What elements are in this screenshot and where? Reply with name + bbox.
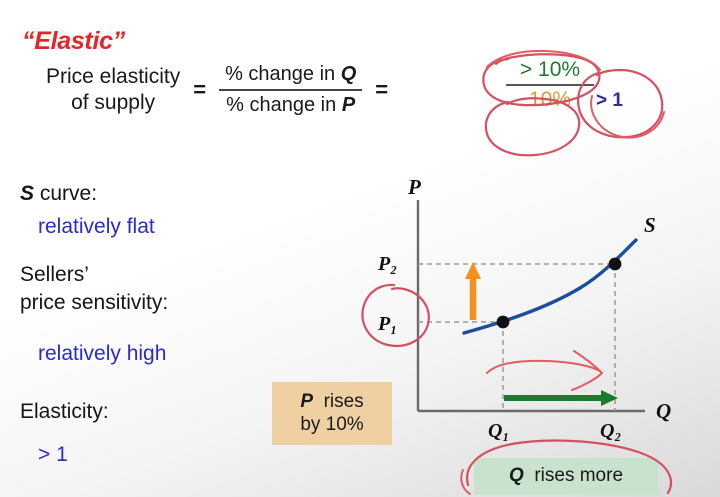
annotated-denominator: 10% bbox=[498, 88, 602, 112]
page-title: “Elastic” bbox=[22, 27, 125, 56]
fraction-numerator: % change in Q bbox=[219, 62, 362, 87]
callout-quantity-text: rises more bbox=[534, 465, 623, 486]
denominator-variable: P bbox=[342, 94, 355, 116]
equals-sign-2: = bbox=[375, 77, 388, 103]
bullet-elasticity-label: Elasticity: bbox=[20, 400, 109, 424]
annotated-result-fraction: > 10% 10% bbox=[498, 58, 602, 112]
callout-price-variable: P bbox=[300, 391, 313, 412]
s-curve-label: curve: bbox=[40, 182, 97, 205]
equals-sign-1: = bbox=[193, 77, 206, 103]
ink-ellipse-quantity-tail bbox=[461, 470, 470, 494]
annotated-fraction-bar bbox=[506, 84, 594, 86]
annotated-numerator: > 10% bbox=[498, 58, 602, 83]
x-tick-label-q2: Q₂ bbox=[600, 420, 621, 442]
y-tick-label-p2: P₂ bbox=[377, 253, 397, 275]
bullet-s-curve: S curve: bbox=[20, 182, 97, 206]
supply-curve-label: S bbox=[644, 213, 656, 237]
y-tick-label-p1: P₁ bbox=[377, 313, 397, 335]
supply-curve-line bbox=[464, 240, 636, 333]
denominator-text: % change in bbox=[226, 94, 336, 116]
supply-curve-chart: P Q S P₂ P₁ Q₁ Q₂ bbox=[340, 170, 700, 450]
numerator-text: % change in bbox=[225, 63, 335, 85]
bullet-sellers-line2: price sensitivity: bbox=[20, 291, 168, 315]
s-curve-variable: S bbox=[20, 182, 34, 205]
point-1-marker bbox=[497, 316, 510, 329]
bullet-sellers-value: relatively high bbox=[38, 342, 166, 366]
elasticity-formula: Price elasticity of supply = % change in… bbox=[46, 62, 401, 118]
y-axis-label: P bbox=[407, 175, 421, 199]
fraction-denominator: % change in P bbox=[219, 93, 362, 118]
slide-canvas: “Elastic” Price elasticity of supply = %… bbox=[0, 0, 720, 497]
bullet-sellers-line1: Sellers’ bbox=[20, 263, 89, 287]
callout-quantity-variable: Q bbox=[509, 465, 524, 486]
formula-left-side: Price elasticity of supply bbox=[46, 64, 180, 116]
formula-fraction: % change in Q % change in P bbox=[219, 62, 362, 118]
x-tick-label-q1: Q₁ bbox=[488, 420, 509, 442]
bullet-s-curve-value: relatively flat bbox=[38, 215, 155, 239]
quantity-rise-arrow bbox=[504, 390, 618, 406]
price-rise-arrow bbox=[465, 262, 481, 320]
formula-lhs-line2: of supply bbox=[46, 90, 180, 116]
numerator-variable: Q bbox=[341, 63, 357, 85]
fraction-bar bbox=[219, 89, 362, 91]
annotated-result-value: > 1 bbox=[596, 90, 623, 112]
formula-lhs-line1: Price elasticity bbox=[46, 64, 180, 90]
callout-quantity-rises: Q rises more bbox=[474, 458, 658, 495]
point-2-marker bbox=[609, 258, 622, 271]
bullet-elasticity-value: > 1 bbox=[38, 443, 68, 467]
x-axis-label: Q bbox=[656, 399, 671, 423]
